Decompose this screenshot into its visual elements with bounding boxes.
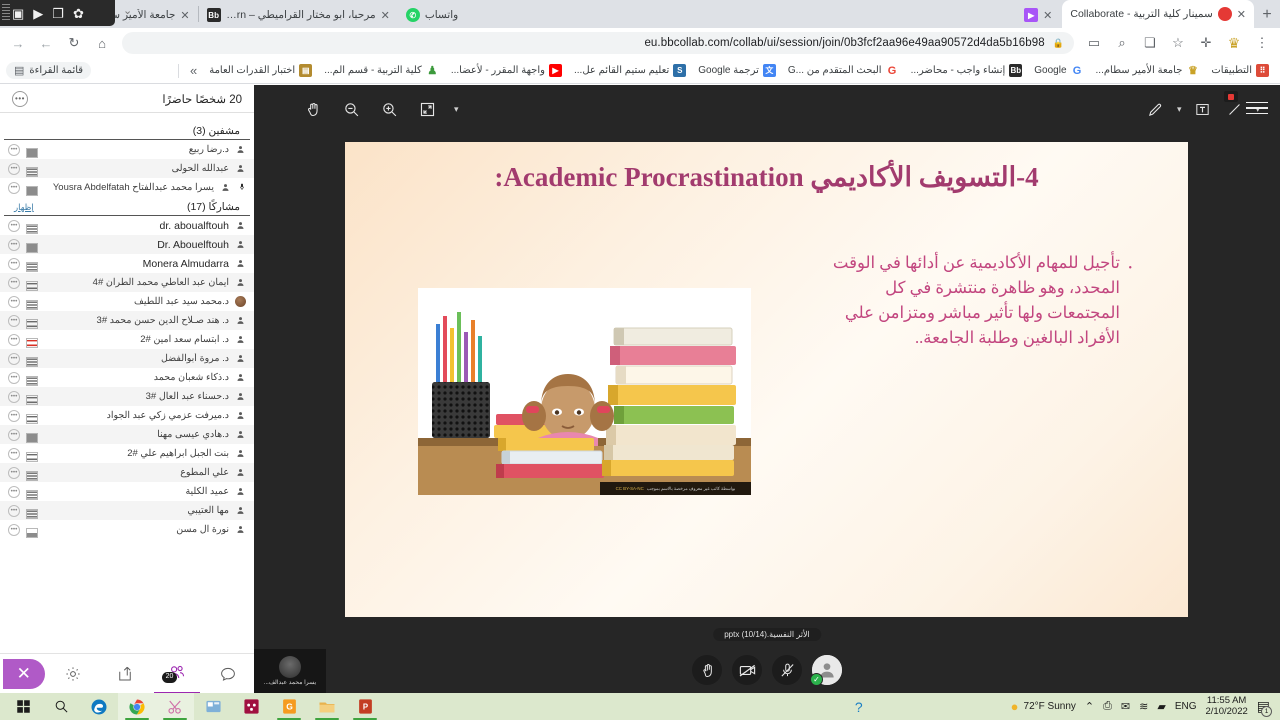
- participant-row[interactable]: نورة ال مسن•••: [0, 520, 254, 539]
- weather-widget[interactable]: ● 72°F Sunny: [1011, 699, 1076, 714]
- extensions-icon[interactable]: ✛: [1194, 31, 1218, 55]
- bookmark-label: تعليم ستيم القائم عل...: [574, 65, 669, 76]
- pan-icon[interactable]: [302, 98, 324, 120]
- participant-options-icon[interactable]: •••: [8, 391, 20, 403]
- person-icon: [235, 410, 246, 421]
- bookmark-label: إنشاء واجب - محاضر...: [911, 65, 1006, 76]
- participant-options-icon[interactable]: •••: [8, 220, 20, 232]
- address-bar[interactable]: eu.bbcollab.com/collab/ui/session/join/0…: [122, 32, 1074, 54]
- taskbar-edge[interactable]: [80, 693, 118, 720]
- microphone-toggle-button[interactable]: [772, 655, 802, 685]
- chevron-down-icon[interactable]: ▾: [454, 104, 459, 115]
- gear-icon[interactable]: ✿: [73, 7, 84, 20]
- moderator-bar: [26, 240, 38, 250]
- svg-text:G: G: [286, 701, 293, 711]
- participant-row[interactable]: د.ميرفت عزمي زكي عبد الجواد•••: [0, 406, 254, 425]
- taskbar-powerpoint[interactable]: P: [346, 693, 384, 720]
- participant-row[interactable]: د.رضا ربيع•••: [0, 140, 254, 159]
- bookmark-label: ترجمة Google: [698, 65, 759, 76]
- taskbar-store[interactable]: [194, 693, 232, 720]
- person-icon: [235, 258, 246, 269]
- bookmark-steam-education[interactable]: S تعليم ستيم القائم عل...: [569, 62, 691, 79]
- taskbar-snip[interactable]: [156, 693, 194, 720]
- participant-name: د.محمد سيد عبد اللطيف: [44, 296, 229, 307]
- slide-title: 4-التسويف الأكاديمي Academic Procrastina…: [345, 162, 1188, 193]
- participant-options-icon[interactable]: •••: [8, 334, 20, 346]
- person-icon: [235, 467, 246, 478]
- new-tab-button[interactable]: +: [1254, 2, 1280, 28]
- participants-group-header: مشفين (3): [4, 121, 250, 140]
- windows-taskbar: G P ? ● 72°F Sunny ⌃ ⎙ ✉ ≋ ▰ ENG: [0, 693, 1280, 720]
- signal-bars: [26, 354, 38, 364]
- bookmark-google[interactable]: G Google: [1029, 62, 1088, 79]
- group-action-link[interactable]: إظهار: [14, 202, 34, 213]
- tab-close-icon[interactable]: ✕: [381, 9, 390, 22]
- participant-row[interactable]: ايمان عبد العاطي محمد الطران #4•••: [0, 273, 254, 292]
- bookmark-label: جامعة الأمير سطام...: [1096, 65, 1183, 76]
- participant-row[interactable]: يسرا محمد عبدالفتاح Yousra Abdelfatah•••: [0, 178, 254, 197]
- participant-options-icon[interactable]: •••: [8, 486, 20, 498]
- record-icon: [1218, 7, 1232, 21]
- participant-name: د. ابتسام سعد امين #2: [44, 334, 229, 345]
- half-bars: [26, 278, 38, 288]
- clock-date: 2/10/2022: [1206, 707, 1248, 718]
- screen-recorder-overlay[interactable]: ▣ ▶ ❐ ✿: [0, 0, 115, 26]
- apps-grid-icon: ⠿: [1256, 64, 1269, 77]
- browser-tab-strip: + ✕ سمينار كلية التربية - Collaborate ✕ …: [0, 0, 1280, 28]
- participant-row[interactable]: عميد الكلية•••: [0, 482, 254, 501]
- bookmark-label: واجهة المقرر - لأعضا...: [451, 65, 545, 76]
- hamburger-menu-icon[interactable]: [1242, 95, 1272, 121]
- sun-icon: ●: [1011, 699, 1019, 714]
- participant-name: dr. aboualftouh: [44, 220, 229, 232]
- signal-bars: [26, 164, 38, 174]
- participant-options-icon[interactable]: •••: [8, 277, 20, 289]
- participant-row[interactable]: د.محمد سيد عبد اللطيف•••: [0, 292, 254, 311]
- participant-name: يسرا محمد عبدالفتاح Yousra Abdelfatah: [44, 182, 214, 193]
- bullet-marker: •: [1128, 256, 1132, 281]
- participants-panel-header: 20 شخصًا حاضرًا •••: [0, 85, 254, 113]
- person-icon: [235, 372, 246, 383]
- browser-tab-whatsapp[interactable]: ✕ ▶: [1016, 2, 1060, 28]
- clock[interactable]: 11:55 AM 2/10/2022: [1206, 696, 1248, 718]
- start-button[interactable]: [4, 693, 42, 720]
- bookmarks-bar: ⠿ التطبيقات ♛ جامعة الأمير سطام... G Goo…: [0, 58, 1280, 84]
- presentation-stage: ▾ ▾: [254, 85, 1280, 693]
- participants-group: dr. aboualftouh•••Dr. Abouelftouh•••Mone…: [0, 216, 254, 539]
- participants-count-badge: 20: [162, 672, 178, 682]
- person-icon: [235, 277, 246, 288]
- participant-name: د.رضا ربيع: [44, 144, 229, 155]
- slide-canvas[interactable]: 4-التسويف الأكاديمي Academic Procrastina…: [345, 142, 1188, 617]
- translate-icon: 文: [763, 64, 776, 77]
- collections-icon[interactable]: ❏: [1138, 31, 1162, 55]
- language-indicator[interactable]: ENG: [1175, 701, 1197, 712]
- tab-title: واتساب: [425, 9, 458, 21]
- university-icon: ♛: [1186, 64, 1199, 77]
- weather-text: 72°F Sunny: [1024, 701, 1076, 712]
- person-icon: [235, 220, 246, 231]
- participant-name: عبدالله الحولى: [44, 163, 229, 174]
- browser-toolbar: ⋮ ♛ ✛ ☆ ❏ ⌕ ▭ eu.bbcollab.com/collab/ui/…: [0, 28, 1280, 58]
- person-icon: [235, 315, 246, 326]
- bookmarks-divider: [178, 64, 179, 78]
- settings-button[interactable]: [50, 654, 96, 694]
- participant-options-icon[interactable]: •••: [8, 353, 20, 365]
- reload-icon[interactable]: ↻: [62, 31, 86, 55]
- license-text: بواسطة كاتب غير معروف مرخصة بالاسم بموجب: [647, 486, 736, 492]
- participant-row[interactable]: Monera Almudarra•••: [0, 254, 254, 273]
- person-icon: [235, 353, 246, 364]
- profile-avatar-icon[interactable]: ♛: [1222, 31, 1246, 55]
- status-check-badge: ✓: [810, 673, 823, 686]
- chess-piece-icon: ♟: [426, 64, 439, 77]
- bookmark-label: اختبار القدرات العامة: [209, 65, 295, 76]
- moderator-bar: [26, 145, 38, 155]
- blackboard-icon: Bb: [1009, 64, 1022, 77]
- participants-button[interactable]: 20: [154, 654, 200, 694]
- participant-options-icon[interactable]: •••: [8, 258, 20, 270]
- back-icon[interactable]: ←: [34, 31, 58, 55]
- signal-bars: [26, 487, 38, 497]
- attendee-count-label: 20 شخصًا حاضرًا: [162, 92, 242, 106]
- participant-options-icon[interactable]: •••: [8, 315, 20, 327]
- taskbar-mentimeter[interactable]: [232, 693, 270, 720]
- signal-bars: [26, 373, 38, 383]
- tray-overflow-chevron-icon[interactable]: ⌃: [1085, 700, 1094, 713]
- browser-menu-icon[interactable]: ⋮: [1250, 31, 1274, 55]
- taskbar-explorer[interactable]: [308, 693, 346, 720]
- participant-row[interactable]: د. ابتسام سعد امين #2•••: [0, 330, 254, 349]
- person-icon: [235, 524, 246, 535]
- camera-toggle-button[interactable]: [732, 655, 762, 685]
- bookmark-label: Google: [1034, 65, 1066, 76]
- gallery-icon[interactable]: ❐: [52, 7, 64, 20]
- red-bar: [26, 335, 38, 345]
- participant-row[interactable]: د. مروة أبوالفضل•••: [0, 349, 254, 368]
- whatsapp-icon: ▶: [1024, 8, 1038, 22]
- raise-hand-button[interactable]: [692, 655, 722, 685]
- share-content-button[interactable]: [102, 654, 148, 694]
- participants-group: د.رضا ربيع•••عبدالله الحولى•••يسرا محمد …: [0, 140, 254, 197]
- signal-bars: [26, 506, 38, 516]
- person-icon: [235, 448, 246, 459]
- group-title: مشاركًا (17): [187, 201, 240, 213]
- participant-row[interactable]: د.هادي عيسى مهنا•••: [0, 425, 254, 444]
- half-bars: [26, 316, 38, 326]
- tab-close-icon[interactable]: ✕: [1237, 8, 1246, 21]
- chat-button[interactable]: [205, 654, 251, 694]
- participant-name: د.ميرفت عزمي زكي عبد الجواد: [44, 410, 229, 421]
- participant-options-icon[interactable]: •••: [8, 429, 20, 441]
- zoom-in-icon[interactable]: [378, 98, 400, 120]
- google-icon: G: [886, 64, 899, 77]
- slide-paragraph: تأجيل للمهام الأكاديمية عن أدائها في الو…: [833, 253, 1120, 347]
- media-controls-bar: ✓: [692, 655, 842, 685]
- person-icon: [220, 182, 231, 193]
- chevron-down-icon[interactable]: ▾: [1177, 104, 1182, 115]
- screen: + ✕ سمينار كلية التربية - Collaborate ✕ …: [0, 0, 1280, 720]
- person-icon: [235, 391, 246, 402]
- participant-options-icon[interactable]: •••: [8, 372, 20, 384]
- bookmark-university[interactable]: ♛ جامعة الأمير سطام...: [1091, 62, 1205, 79]
- participant-name: Dr. Abouelftouh: [44, 239, 229, 251]
- search-icon[interactable]: ⌕: [1110, 31, 1134, 55]
- address-bar-url: eu.bbcollab.com/collab/ui/session/join/0…: [644, 37, 1044, 49]
- pencil-icon[interactable]: [1145, 98, 1167, 120]
- participant-name: د.ذكاء شعبان محمد: [44, 372, 229, 383]
- participant-name: نورة ال مسن: [44, 524, 229, 535]
- person-icon: [235, 429, 246, 440]
- clock-time: 11:55 AM: [1207, 696, 1246, 707]
- reading-list-label: قائمة القراءة: [29, 65, 83, 76]
- taskbar-gpower[interactable]: G: [270, 693, 308, 720]
- person-icon: [235, 505, 246, 516]
- signal-bars: [26, 468, 38, 478]
- license-code: CC BY-SA-NC: [616, 486, 644, 491]
- collaborate-session: 20 شخصًا حاضرًا ••• مشفين (3)د.رضا ربيع•…: [0, 85, 1280, 693]
- session-app-bar: ✕ 20: [0, 653, 254, 693]
- camera-icon[interactable]: ▣: [12, 7, 24, 20]
- presence-avatar-button[interactable]: ✓: [812, 655, 842, 685]
- bookmarks-overflow-button[interactable]: »: [185, 63, 202, 78]
- image-license-caption: بواسطة كاتب غير معروف مرخصة بالاسم بموجب…: [600, 482, 751, 495]
- participants-group-header: مشاركًا (17)إظهار: [4, 197, 250, 216]
- browser-tab-whatsapp-label[interactable]: واتساب ✆: [398, 2, 466, 28]
- browser-tab-active[interactable]: ✕ سمينار كلية التربية - Collaborate: [1062, 0, 1254, 28]
- participant-name: ايمان عبد العاطي محمد الطران #4: [44, 277, 229, 288]
- bookmark-star-icon[interactable]: ☆: [1166, 31, 1190, 55]
- bookmark-course-interface[interactable]: ▶ واجهة المقرر - لأعضا...: [446, 62, 567, 79]
- stage-toolbar-left: ▾: [302, 98, 459, 120]
- bookmark-label: كلية التربية - قسم الم...: [324, 65, 422, 76]
- participant-row[interactable]: علي المطوع•••: [0, 463, 254, 482]
- bookmark-google-translate[interactable]: 文 ترجمة Google: [693, 62, 781, 79]
- video-icon[interactable]: ▶: [33, 7, 43, 20]
- half-bars: [26, 449, 38, 459]
- svg-text:P: P: [362, 702, 367, 711]
- drag-handle[interactable]: [2, 4, 10, 22]
- participant-name: د.هادي عيسى مهنا: [44, 429, 229, 440]
- low-bar: [26, 525, 38, 535]
- signal-bars: [26, 259, 38, 269]
- slide-body-text: • تأجيل للمهام الأكاديمية عن أدائها في ا…: [810, 250, 1120, 350]
- participant-row[interactable]: د. هند صـلاح الدين حسن محمد #3•••: [0, 311, 254, 330]
- signal-bars: [26, 221, 38, 231]
- bookmark-faculty-education[interactable]: ♟ كلية التربية - قسم الم...: [319, 62, 444, 79]
- participant-row[interactable]: د.حسناء عبد العال #3•••: [0, 387, 254, 406]
- bookmark-apps[interactable]: ⠿ التطبيقات: [1206, 62, 1274, 79]
- google-icon: G: [1071, 64, 1084, 77]
- recording-indicator: [1224, 91, 1238, 102]
- zoom-out-icon[interactable]: [340, 98, 362, 120]
- participant-row[interactable]: عبدالله الحولى•••: [0, 159, 254, 178]
- participant-options-icon[interactable]: •••: [8, 448, 20, 460]
- tab-close-icon[interactable]: ✕: [1043, 9, 1052, 22]
- taskbar-chrome[interactable]: [118, 693, 156, 720]
- participant-name: مها العتيبي: [44, 505, 229, 516]
- moderator-bar: [26, 430, 38, 440]
- microphone-icon: [237, 182, 246, 193]
- participant-options-icon[interactable]: •••: [8, 296, 20, 308]
- bookmark-label: البحث المتقدم من ...G: [788, 65, 882, 76]
- bookmark-create-assignment[interactable]: Bb إنشاء واجب - محاضر...: [906, 62, 1028, 79]
- steam-icon: S: [673, 64, 686, 77]
- sidebar-icon[interactable]: ▭: [1082, 31, 1106, 55]
- participant-options-icon[interactable]: •••: [8, 467, 20, 479]
- participant-name: د. مروة أبوالفضل: [44, 353, 229, 364]
- bookmark-label: التطبيقات: [1211, 65, 1252, 76]
- half-bars: [26, 411, 38, 421]
- notification-count: 1: [1261, 706, 1272, 717]
- half-bars: [26, 392, 38, 402]
- system-tray: ? ● 72°F Sunny ⌃ ⎙ ✉ ≋ ▰ ENG 11:55 AM 2/…: [855, 696, 1276, 718]
- textbox-icon[interactable]: [1191, 98, 1213, 120]
- participant-name: د. هند صـلاح الدين حسن محمد #3: [44, 315, 229, 326]
- participant-row[interactable]: dr. aboualftouh•••: [0, 216, 254, 235]
- participant-options-icon[interactable]: •••: [8, 239, 20, 251]
- close-panel-button[interactable]: ✕: [3, 659, 45, 689]
- bookmark-aptitude-test[interactable]: ▤ اختبار القدرات العامة: [204, 62, 317, 79]
- search-icon[interactable]: [42, 693, 80, 720]
- person-icon: [235, 144, 246, 155]
- self-video-tile[interactable]: يسرا محمد عبدالف...: [254, 649, 326, 693]
- help-icon[interactable]: ?: [855, 699, 863, 715]
- person-icon: [235, 239, 246, 250]
- participant-row[interactable]: بنت الجبل ابراهيم علي #2•••: [0, 444, 254, 463]
- signal-bars: [26, 297, 38, 307]
- participant-options-icon[interactable]: •••: [8, 144, 20, 156]
- home-icon[interactable]: ⌂: [90, 31, 114, 55]
- participants-panel: 20 شخصًا حاضرًا ••• مشفين (3)د.رضا ربيع•…: [0, 85, 254, 693]
- participant-name: بنت الجبل ابراهيم علي #2: [44, 448, 229, 459]
- tab-title: سمينار كلية التربية - Collaborate: [1070, 8, 1212, 20]
- bookmark-advanced-search[interactable]: G البحث المتقدم من ...G: [783, 62, 904, 79]
- participant-row[interactable]: د.ذكاء شعبان محمد•••: [0, 368, 254, 387]
- participant-options-icon[interactable]: •••: [8, 163, 20, 175]
- chart-icon: ▤: [299, 64, 312, 77]
- participant-name: علي المطوع: [44, 467, 229, 478]
- person-icon: [235, 163, 246, 174]
- participant-options-icon[interactable]: •••: [8, 505, 20, 517]
- battery-icon[interactable]: ▰: [1157, 700, 1165, 713]
- youtube-icon: ▶: [549, 64, 562, 77]
- reading-list-button[interactable]: قائمة القراءة ▤: [6, 62, 91, 79]
- person-icon: [235, 334, 246, 345]
- reading-list-icon: ▤: [14, 64, 24, 77]
- forward-icon[interactable]: →: [6, 31, 30, 55]
- tab-close-icon[interactable]: ✕: [180, 9, 189, 22]
- tab-title: مرحبا، ابو مختار القراميطي – Learn: [226, 9, 376, 21]
- participant-name: عميد الكلية: [44, 486, 229, 497]
- wifi-icon[interactable]: ≋: [1139, 700, 1148, 713]
- participant-name: Monera Almudarra: [44, 258, 229, 270]
- stage-toolbar: ▾ ▾: [254, 85, 1280, 140]
- notification-icon[interactable]: ▤ 1: [1257, 698, 1270, 715]
- moderator-bar: [26, 183, 38, 193]
- group-title: مشفين (3): [193, 125, 240, 137]
- person-icon: [235, 486, 246, 497]
- chevron-down-icon[interactable]: ⌄: [123, 4, 132, 17]
- self-video-name: يسرا محمد عبدالف...: [264, 679, 316, 686]
- fit-to-screen-icon[interactable]: [416, 98, 438, 120]
- whatsapp-icon: ✆: [406, 8, 420, 22]
- participant-options-icon[interactable]: •••: [8, 182, 20, 194]
- participant-name: د.حسناء عبد العال #3: [44, 391, 229, 402]
- participant-row[interactable]: Dr. Abouelftouh•••: [0, 235, 254, 254]
- browser-tab-learn[interactable]: ✕ مرحبا، ابو مختار القراميطي – Learn Bb: [199, 2, 398, 28]
- avatar: [279, 656, 301, 678]
- participant-options-icon[interactable]: •••: [8, 410, 20, 422]
- avatar: [235, 296, 246, 307]
- participant-row[interactable]: مها العتيبي•••: [0, 501, 254, 520]
- slide-image: بواسطة كاتب غير معروف مرخصة بالاسم بموجب…: [418, 288, 751, 495]
- participant-options-icon[interactable]: •••: [8, 524, 20, 536]
- participants-list[interactable]: مشفين (3)د.رضا ربيع•••عبدالله الحولى•••ي…: [0, 113, 254, 693]
- more-options-icon[interactable]: •••: [12, 91, 28, 107]
- slide-counter: الأثر النفسية.pptx (10/14): [713, 628, 821, 641]
- lock-icon: 🔒: [1053, 38, 1064, 49]
- projector-icon[interactable]: ⎙: [1103, 700, 1112, 713]
- mail-icon[interactable]: ✉: [1121, 700, 1130, 713]
- blackboard-icon: Bb: [207, 8, 221, 22]
